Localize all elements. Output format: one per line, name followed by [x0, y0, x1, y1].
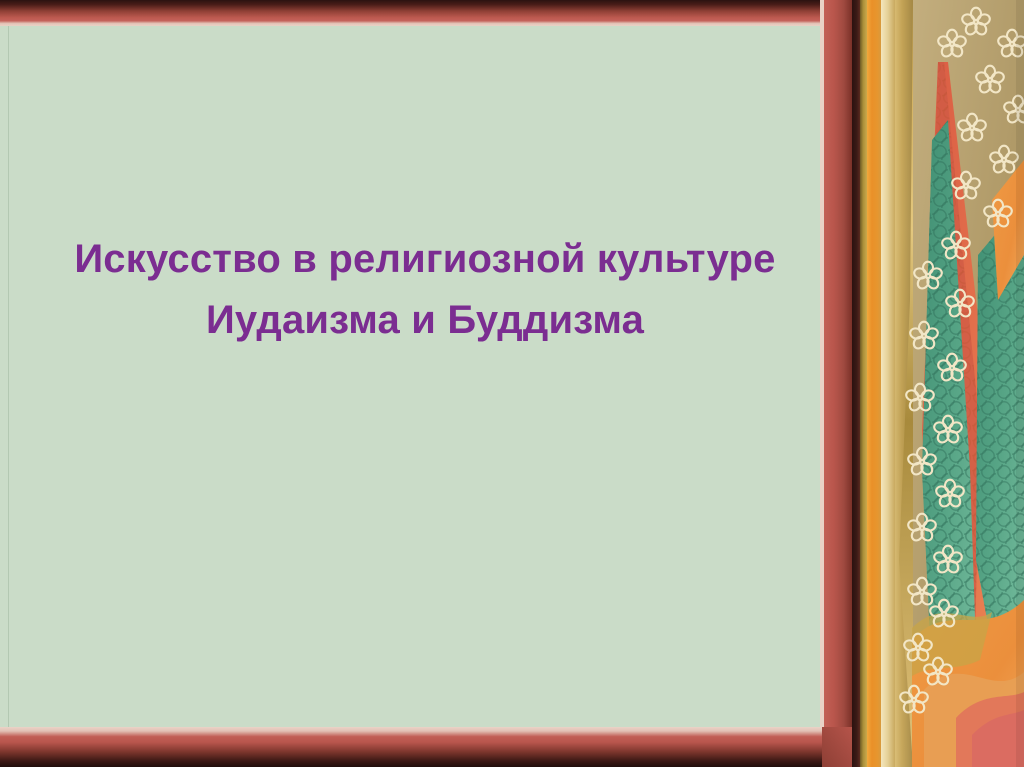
ornament-edge-shadow	[1016, 0, 1024, 767]
stripe-orange	[867, 0, 881, 767]
stripe-maroon	[852, 0, 860, 767]
frame-band-top	[0, 0, 852, 26]
slide-canvas: Искусство в религиозной культуре Иудаизм…	[0, 0, 1024, 767]
slide-content-pane: Искусство в религиозной культуре Иудаизм…	[0, 0, 852, 767]
frame-left-hairline	[8, 26, 9, 727]
ornamental-right-border	[852, 0, 1024, 767]
stripe-cream	[881, 0, 895, 767]
slide-title-line-2: Иудаизма и Буддизма	[60, 297, 790, 344]
frame-band-bottom	[0, 727, 852, 767]
frame-band-right	[824, 0, 852, 767]
slide-title: Искусство в религиозной культуре Иудаизм…	[60, 236, 790, 344]
slide-title-line-1: Искусство в религиозной культуре	[60, 236, 790, 283]
ornament-artwork	[852, 0, 1024, 767]
stripe-olive	[860, 0, 867, 767]
frame-corner-bottom-right	[822, 727, 852, 767]
